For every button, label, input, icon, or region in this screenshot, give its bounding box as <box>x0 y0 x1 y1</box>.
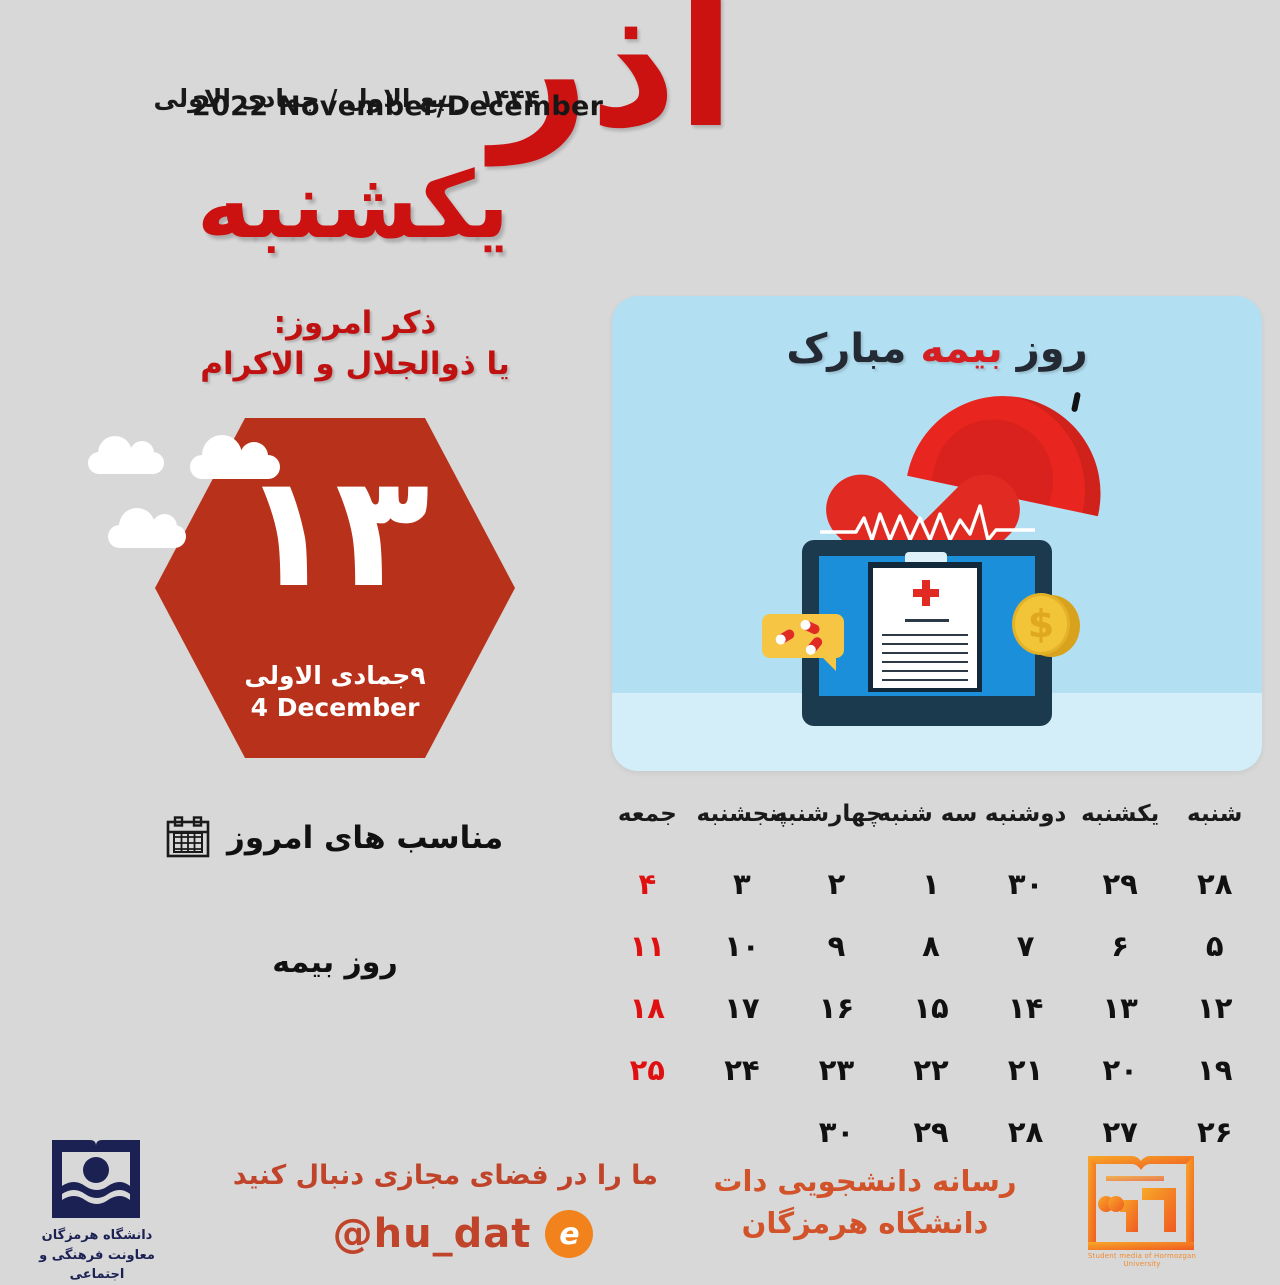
calendar-page: آذر ۱۴۴۴ ربیع الاول / جمادی الاولی 2022 … <box>0 0 1280 1280</box>
day-cell[interactable]: ۳ <box>695 853 790 915</box>
day-cell[interactable]: ۲۹ <box>1073 853 1168 915</box>
occasions-heading-label: مناسب های امروز <box>227 820 503 856</box>
university-logo-icon <box>48 1136 144 1222</box>
day-cell[interactable]: ۱۳ <box>1073 977 1168 1039</box>
weekday-header: پنجشنبه <box>695 800 790 853</box>
day-cell[interactable]: ۲۵ <box>600 1039 695 1101</box>
month-table: شنبه یکشنبه دوشنبه سه شنبه چهارشنبه پنجش… <box>600 800 1262 1163</box>
occasions-heading: مناسب های امروز <box>165 815 505 861</box>
day-cell[interactable]: ۲ <box>789 853 884 915</box>
day-cell[interactable]: ۱۲ <box>1167 977 1262 1039</box>
paper-line <box>882 634 968 636</box>
occasion-item: روز بیمه <box>165 945 505 980</box>
day-cell[interactable]: ۱۸ <box>600 977 695 1039</box>
cloud-icon <box>108 525 186 548</box>
day-cell[interactable]: ۱۵ <box>884 977 979 1039</box>
illustration-title-prefix: روز <box>1003 326 1088 372</box>
day-cell[interactable]: ۲۸ <box>1167 853 1262 915</box>
weekday-header: یکشنبه <box>1073 800 1168 853</box>
day-cell[interactable]: ۳۰ <box>978 853 1073 915</box>
gregorian-month-line: 2022 November/December <box>192 91 603 122</box>
today-gregorian-date: 4 December <box>155 693 515 722</box>
weekday-header: دوشنبه <box>978 800 1073 853</box>
month-week-row: ۲۸۲۹۳۰۱۲۳۴ <box>600 853 1262 915</box>
zekr-label: ذکر امروز: <box>274 305 437 341</box>
month-grid: شنبه یکشنبه دوشنبه سه شنبه چهارشنبه پنجش… <box>600 800 1262 1163</box>
today-hijri-date: ۹جمادی الاولی <box>155 661 515 690</box>
day-cell[interactable]: ۶ <box>1073 915 1168 977</box>
paper-line <box>905 619 949 622</box>
weekday-header: جمعه <box>600 800 695 853</box>
paper-line <box>882 643 968 645</box>
month-week-row: ۱۹۲۰۲۱۲۲۲۳۲۴۲۵ <box>600 1039 1262 1101</box>
dollar-sign-icon: $ <box>1012 593 1070 655</box>
day-cell[interactable]: ۵ <box>1167 915 1262 977</box>
cloud-icon <box>88 452 164 474</box>
daily-zekr: ذکر امروز: یا ذوالجلال و الاکرام <box>150 303 560 385</box>
dat-logo-caption: Student media of Hormozgan University <box>1078 1252 1206 1268</box>
media-name-line2: دانشگاه هرمزگان <box>700 1202 1030 1244</box>
day-cell[interactable]: ۱۹ <box>1167 1039 1262 1101</box>
weekday-header: سه شنبه <box>884 800 979 853</box>
eitaa-icon[interactable]: e <box>545 1210 593 1258</box>
paper-line <box>882 661 968 663</box>
calendar-icon <box>165 815 211 861</box>
university-caption: دانشگاه هرمزگان معاونت فرهنگی و اجتماعی <box>12 1226 182 1285</box>
illustration-title-highlight: بیمه <box>920 326 1002 372</box>
day-cell[interactable]: ۲۰ <box>1073 1039 1168 1101</box>
weekday-header-row: شنبه یکشنبه دوشنبه سه شنبه چهارشنبه پنجش… <box>600 800 1262 853</box>
paper-line <box>882 652 968 654</box>
weekday-header: شنبه <box>1167 800 1262 853</box>
day-cell[interactable]: ۲۴ <box>695 1039 790 1101</box>
follow-us-text: ما را در فضای مجازی دنبال کنید <box>268 1160 658 1191</box>
weekday-header: چهارشنبه <box>789 800 884 853</box>
social-handle-row[interactable]: e @hu_dat <box>268 1210 658 1258</box>
day-cell[interactable]: ۱۱ <box>600 915 695 977</box>
month-week-row: ۵۶۷۸۹۱۰۱۱ <box>600 915 1262 977</box>
zekr-text: یا ذوالجلال و الاکرام <box>150 344 560 385</box>
medical-cross-icon <box>913 580 939 606</box>
day-cell[interactable]: ۱۶ <box>789 977 884 1039</box>
day-cell[interactable]: ۸ <box>884 915 979 977</box>
day-cell[interactable]: ۲۲ <box>884 1039 979 1101</box>
paper-line <box>882 670 968 672</box>
day-cell[interactable]: ۱۷ <box>695 977 790 1039</box>
paper-line <box>882 679 968 681</box>
day-cell[interactable]: ۹ <box>789 915 884 977</box>
media-name: رسانه دانشجویی دات دانشگاه هرمزگان <box>700 1160 1030 1244</box>
day-cell[interactable]: ۲۱ <box>978 1039 1073 1101</box>
illustration-title-suffix: مبارک <box>786 326 920 372</box>
day-cell[interactable]: ۲۳ <box>789 1039 884 1101</box>
day-cell[interactable]: ۱۴ <box>978 977 1073 1039</box>
cloud-icon <box>190 455 280 479</box>
weekday-title: یکشنبه <box>148 160 558 252</box>
university-department: معاونت فرهنگی و اجتماعی <box>12 1246 182 1285</box>
day-cell[interactable]: ۷ <box>978 915 1073 977</box>
media-name-line1: رسانه دانشجویی دات <box>700 1160 1030 1202</box>
dat-logo-icon <box>1082 1148 1200 1258</box>
day-cell[interactable]: ۱ <box>884 853 979 915</box>
month-week-row: ۱۲۱۳۱۴۱۵۱۶۱۷۱۸ <box>600 977 1262 1039</box>
day-cell[interactable]: ۴ <box>600 853 695 915</box>
social-handle[interactable]: @hu_dat <box>333 1211 532 1257</box>
university-name: دانشگاه هرمزگان <box>12 1226 182 1246</box>
month-title: آذر <box>492 0 735 152</box>
month-table-body: ۲۸۲۹۳۰۱۲۳۴۵۶۷۸۹۱۰۱۱۱۲۱۳۱۴۱۵۱۶۱۷۱۸۱۹۲۰۲۱۲… <box>600 853 1262 1163</box>
day-cell[interactable]: ۱۰ <box>695 915 790 977</box>
illustration-title: روز بیمه مبارک <box>612 326 1262 372</box>
